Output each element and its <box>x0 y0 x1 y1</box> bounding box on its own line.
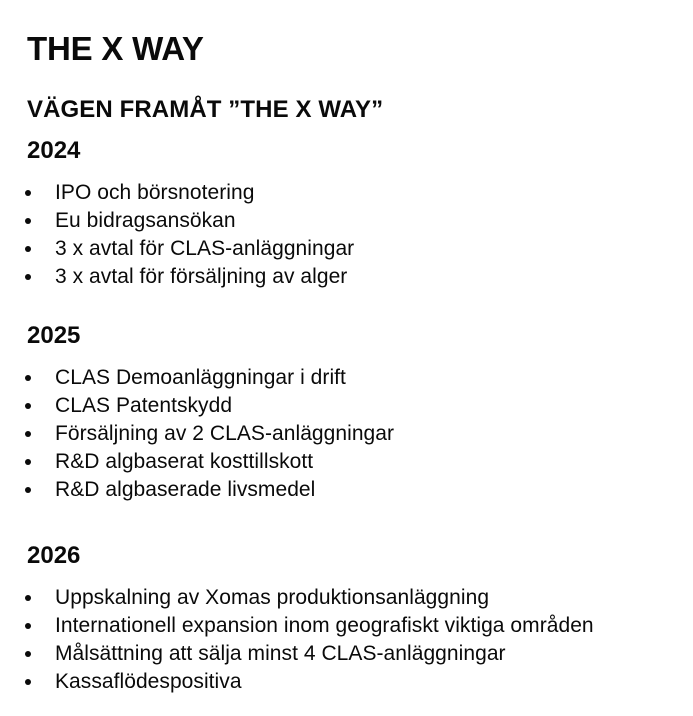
list-item: Målsättning att sälja minst 4 CLAS-anläg… <box>0 640 693 668</box>
bullet-list: Uppskalning av Xomas produktionsanläggni… <box>0 584 693 696</box>
list-item-label: CLAS Demoanläggningar i drift <box>55 366 346 389</box>
list-item: 3 x avtal för CLAS-anläggningar <box>0 235 693 263</box>
bullet-dot-icon <box>25 679 31 685</box>
bullet-dot-icon <box>25 459 31 465</box>
bullet-dot-icon <box>25 403 31 409</box>
list-item: Kassaflödespositiva <box>0 668 693 696</box>
year-section-2026: 2026 Uppskalning av Xomas produktionsanl… <box>0 541 693 696</box>
year-section-2025: 2025 CLAS Demoanläggningar i drift CLAS … <box>0 321 693 504</box>
page-title: THE X WAY <box>27 29 204 69</box>
bullet-dot-icon <box>25 218 31 224</box>
list-item: IPO och börsnotering <box>0 179 693 207</box>
year-heading: 2025 <box>27 321 693 351</box>
list-item-label: 3 x avtal för CLAS-anläggningar <box>55 237 354 260</box>
bullet-dot-icon <box>25 623 31 629</box>
list-item: Internationell expansion inom geografisk… <box>0 612 693 640</box>
bullet-list: IPO och börsnotering Eu bidragsansökan 3… <box>0 179 693 291</box>
list-item-label: CLAS Patentskydd <box>55 394 232 417</box>
bullet-dot-icon <box>25 651 31 657</box>
bullet-dot-icon <box>25 375 31 381</box>
year-section-2024: 2024 IPO och börsnotering Eu bidragsansö… <box>0 136 693 291</box>
list-item-label: IPO och börsnotering <box>55 181 254 204</box>
bullet-dot-icon <box>25 274 31 280</box>
list-item-label: Kassaflödespositiva <box>55 670 242 693</box>
page-subtitle: VÄGEN FRAMÅT ”THE X WAY” <box>27 95 383 125</box>
list-item: CLAS Patentskydd <box>0 392 693 420</box>
year-heading: 2026 <box>27 541 693 571</box>
list-item-label: Eu bidragsansökan <box>55 209 236 232</box>
bullet-dot-icon <box>25 595 31 601</box>
bullet-dot-icon <box>25 246 31 252</box>
bullet-dot-icon <box>25 431 31 437</box>
list-item-label: R&D algbaserade livsmedel <box>55 478 315 501</box>
list-item-label: Försäljning av 2 CLAS-anläggningar <box>55 422 394 445</box>
list-item: 3 x avtal för försäljning av alger <box>0 263 693 291</box>
bullet-dot-icon <box>25 487 31 493</box>
list-item: Eu bidragsansökan <box>0 207 693 235</box>
bullet-dot-icon <box>25 190 31 196</box>
list-item-label: R&D algbaserat kosttillskott <box>55 450 313 473</box>
list-item: CLAS Demoanläggningar i drift <box>0 364 693 392</box>
list-item: R&D algbaserade livsmedel <box>0 476 693 504</box>
list-item-label: Målsättning att sälja minst 4 CLAS-anläg… <box>55 642 506 665</box>
slide-root: THE X WAY VÄGEN FRAMÅT ”THE X WAY” 2024 … <box>0 0 693 716</box>
list-item: R&D algbaserat kosttillskott <box>0 448 693 476</box>
list-item-label: 3 x avtal för försäljning av alger <box>55 265 347 288</box>
bullet-list: CLAS Demoanläggningar i drift CLAS Paten… <box>0 364 693 504</box>
list-item: Uppskalning av Xomas produktionsanläggni… <box>0 584 693 612</box>
year-heading: 2024 <box>27 136 693 166</box>
list-item-label: Internationell expansion inom geografisk… <box>55 614 594 637</box>
list-item-label: Uppskalning av Xomas produktionsanläggni… <box>55 586 489 609</box>
list-item: Försäljning av 2 CLAS-anläggningar <box>0 420 693 448</box>
